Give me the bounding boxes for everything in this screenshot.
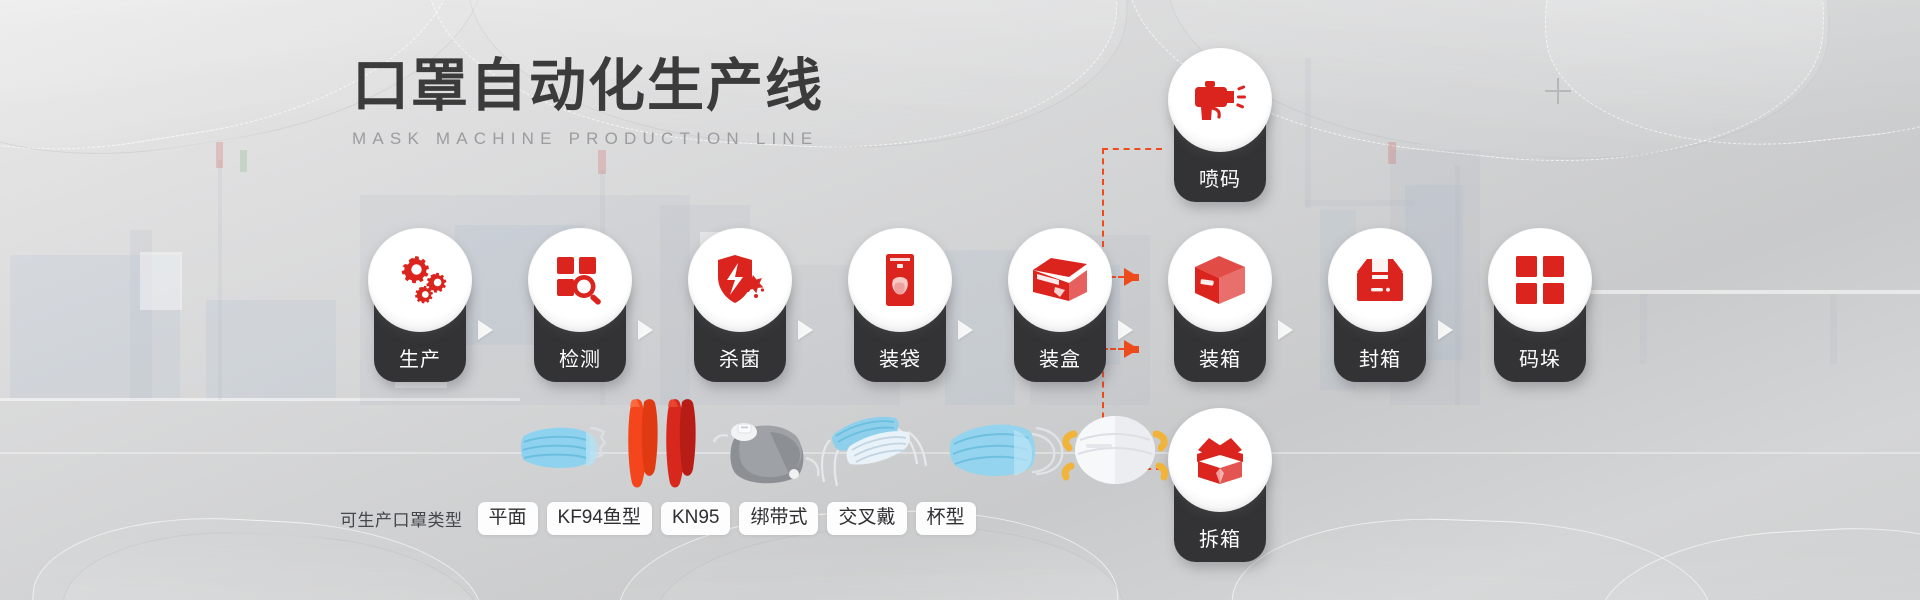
page-title: 口罩自动化生产线 [352, 56, 824, 118]
decorative-mask-shape [1594, 519, 1920, 600]
machine-silhouette [1640, 294, 1647, 364]
flow-arrow-separator [1118, 320, 1133, 340]
spray-gun-icon [1191, 75, 1249, 125]
closed-box-icon [1192, 253, 1248, 307]
machine-silhouette [945, 250, 1015, 405]
machine-silhouette [218, 160, 222, 400]
plus-icon [1545, 78, 1571, 104]
mask-type-chip-kn95[interactable]: KN95 [661, 502, 731, 535]
mask-product-flat-blue [512, 414, 620, 491]
unpack-box-icon [1191, 434, 1249, 486]
decorative-mask-shape [1225, 512, 1714, 600]
node-label: 喷码 [1174, 170, 1266, 190]
palletize-grid-icon [1515, 255, 1565, 305]
mask-type-chip-cross[interactable]: 交叉戴 [827, 502, 906, 535]
mask-type-chip-cup[interactable]: 杯型 [916, 502, 976, 535]
sealed-box-icon [1353, 256, 1407, 304]
mask-type-chip-kf94[interactable]: KF94鱼型 [547, 502, 652, 535]
machine-silhouette [0, 398, 520, 401]
page-subtitle: MASK MACHINE PRODUCTION LINE [352, 129, 824, 149]
mask-types-row: 可生产口罩类型 平面 KF94鱼型 KN95 绑带式 交叉戴 杯型 [340, 502, 976, 535]
shield-sterilize-icon [712, 253, 768, 307]
flow-arrow-separator [638, 320, 653, 340]
mask-product-cross-wear [940, 410, 1066, 493]
node-label: 检测 [534, 350, 626, 370]
flow-arrow-separator [1278, 320, 1293, 340]
node-icon-disc [688, 228, 792, 332]
machine-silhouette [216, 142, 223, 168]
node-icon-disc [528, 228, 632, 332]
banner-root: 口罩自动化生产线 MASK MACHINE PRODUCTION LINE 生产 [0, 0, 1920, 600]
decorative-mask-arc [1524, 0, 1920, 168]
machine-silhouette [1455, 165, 1460, 405]
flow-arrow-separator [1438, 320, 1453, 340]
node-icon-disc [1168, 408, 1272, 512]
machine-silhouette [130, 230, 152, 400]
node-icon-disc [1328, 228, 1432, 332]
mask-types-label: 可生产口罩类型 [340, 506, 463, 531]
node-icon-disc [368, 228, 472, 332]
node-label: 生产 [374, 350, 466, 370]
machine-silhouette [1830, 294, 1837, 364]
mask-product-kf94-fish [622, 396, 706, 493]
open-carton-icon [1029, 256, 1091, 304]
node-label: 装盒 [1014, 350, 1106, 370]
mask-product-kn95-valve [710, 410, 822, 493]
flow-arrow-separator [478, 320, 493, 340]
machine-silhouette [1305, 58, 1311, 208]
node-label: 拆箱 [1174, 530, 1266, 550]
node-label: 杀菌 [694, 350, 786, 370]
machine-silhouette [1388, 142, 1396, 164]
machine-silhouette [598, 150, 606, 174]
flow-arrow-separator [958, 320, 973, 340]
branch-merge-arrow-upper [1124, 268, 1139, 286]
mask-product-tie-band [816, 406, 936, 495]
header-block: 口罩自动化生产线 MASK MACHINE PRODUCTION LINE [352, 56, 824, 149]
node-label: 装袋 [854, 350, 946, 370]
node-icon-disc [1008, 228, 1112, 332]
machine-silhouette [10, 255, 180, 400]
mask-type-chip-tie-band[interactable]: 绑带式 [739, 502, 818, 535]
node-label: 封箱 [1334, 350, 1426, 370]
magnifier-inspect-icon [554, 254, 606, 306]
machine-silhouette [206, 300, 336, 400]
node-icon-disc [1168, 228, 1272, 332]
machine-silhouette [1305, 200, 1415, 206]
branch-merge-arrow-lower [1124, 340, 1139, 358]
node-icon-disc [848, 228, 952, 332]
flow-arrow-separator [798, 320, 813, 340]
branch-connector-top-h [1102, 148, 1162, 150]
node-icon-disc [1168, 48, 1272, 152]
node-label: 码垛 [1494, 350, 1586, 370]
machine-silhouette [140, 252, 182, 310]
mask-products-strip [330, 415, 1020, 495]
machine-silhouette [240, 150, 247, 172]
bag-pack-icon [883, 252, 917, 308]
node-label: 装箱 [1174, 350, 1266, 370]
mask-product-cup-shape [1060, 408, 1170, 493]
node-icon-disc [1488, 228, 1592, 332]
gears-icon [393, 254, 447, 306]
mask-type-chip-flat[interactable]: 平面 [478, 502, 538, 535]
